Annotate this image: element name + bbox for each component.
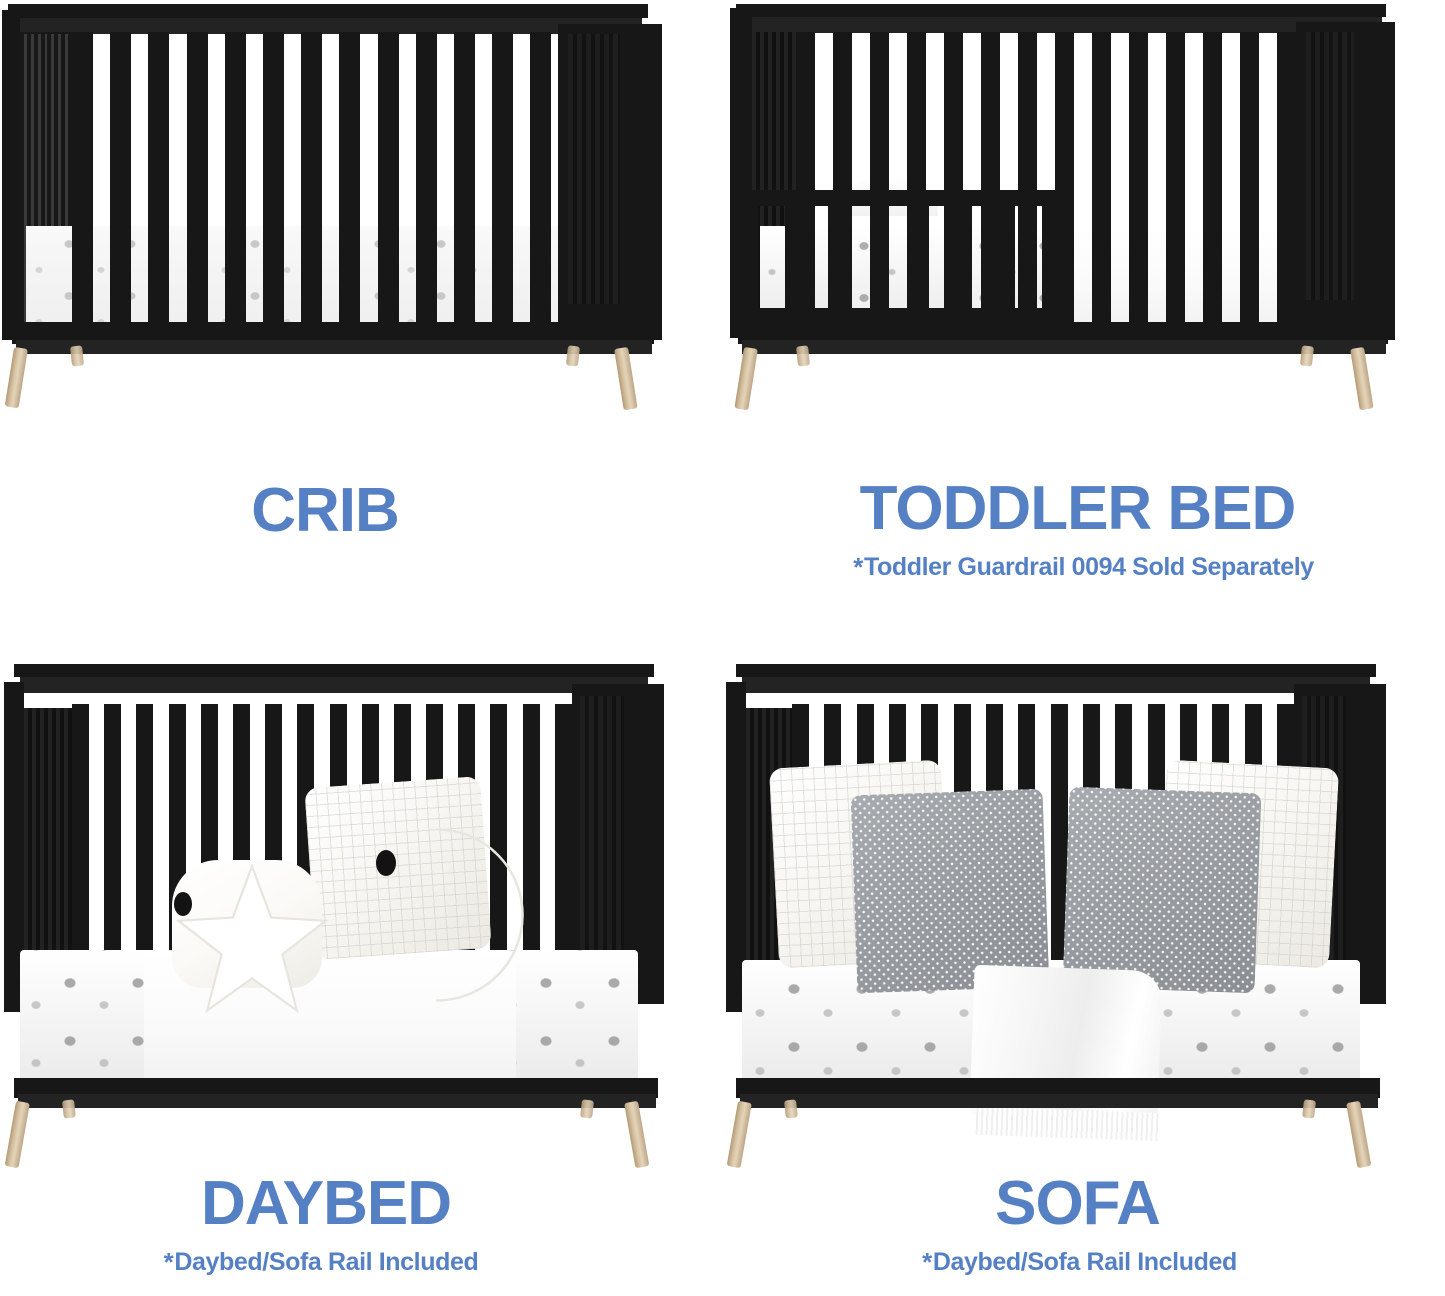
- crib-leg-front-right: [614, 347, 638, 410]
- gray-dotted-pillow-left: [851, 789, 1050, 994]
- slat: [148, 32, 169, 324]
- conversion-options-grid: CRIB: [0, 0, 1445, 1296]
- daybed-leg-front-right: [624, 1101, 649, 1168]
- slat: [187, 32, 208, 324]
- toddler-bed-illustration: [730, 4, 1395, 434]
- sofa-base-skirt: [740, 1094, 1378, 1108]
- crib-front-slats: [72, 32, 628, 324]
- panel-subtitle: *Daybed/Sofa Rail Included: [722, 1249, 1441, 1275]
- crib-base-skirt: [16, 340, 652, 354]
- slat: [492, 32, 513, 324]
- moon-plush-pillow: [348, 826, 528, 1004]
- slat: [136, 704, 153, 976]
- sofa-top-front-rail: [742, 677, 1370, 693]
- panel-crib: CRIB: [0, 0, 722, 648]
- slat: [1042, 206, 1058, 308]
- slat: [416, 32, 437, 324]
- panel-daybed: DAYBED *Daybed/Sofa Rail Included: [0, 648, 722, 1296]
- throw-fringe: [976, 1107, 1161, 1141]
- toddler-leg-front-right: [1350, 347, 1374, 410]
- toddler-leg-back-right: [1300, 345, 1314, 366]
- daybed-base-skirt: [18, 1094, 656, 1108]
- slat: [1203, 32, 1222, 324]
- slat: [301, 32, 322, 324]
- panel-toddler-bed: TODDLER BED *Toddler Guardrail 0094 Sold…: [722, 0, 1445, 648]
- slat: [225, 32, 246, 324]
- crib-leg-back-right: [566, 345, 580, 366]
- sofa-label-group: SOFA *Daybed/Sofa Rail Included: [722, 1173, 1445, 1275]
- asterisk-icon: *: [164, 1247, 174, 1277]
- crib-label-group: CRIB: [0, 480, 722, 542]
- slat: [72, 32, 93, 324]
- guardrail-top-rail: [734, 190, 1066, 206]
- slat: [263, 32, 284, 324]
- moon-pillow-eye: [376, 850, 396, 876]
- panel-subtitle: *Toddler Guardrail 0094 Sold Separately: [722, 554, 1445, 580]
- slat: [72, 704, 89, 976]
- panel-title: CRIB: [0, 480, 686, 542]
- daybed-leg-back-right: [580, 1099, 594, 1118]
- sofa-leg-back-left: [784, 1099, 798, 1118]
- slat: [742, 206, 758, 308]
- panel-title: SOFA: [722, 1173, 1439, 1235]
- sofa-leg-back-right: [1302, 1099, 1316, 1118]
- slat: [1166, 32, 1185, 324]
- crib-right-end-shadow-slats: [568, 34, 620, 304]
- slat: [871, 206, 887, 308]
- slat: [1092, 32, 1111, 324]
- slat: [1277, 32, 1296, 324]
- slat: [1240, 32, 1259, 324]
- toddler-leg-front-left: [734, 347, 758, 410]
- crib-illustration: [2, 4, 662, 434]
- panel-sofa: SOFA *Daybed/Sofa Rail Included: [722, 648, 1445, 1296]
- daybed-leg-front-left: [5, 1101, 30, 1168]
- slat: [555, 704, 572, 976]
- slat: [339, 32, 360, 324]
- panel-subtitle-text: Toddler Guardrail 0094 Sold Separately: [864, 553, 1314, 581]
- sofa-illustration: [726, 664, 1386, 1104]
- crib-left-post: [2, 10, 20, 340]
- toddler-leg-back-left: [796, 345, 810, 366]
- daybed-right-end-shadow-slats: [580, 696, 624, 964]
- sofa-leg-front-right: [1346, 1101, 1371, 1168]
- guardrail-slats: [742, 206, 1058, 308]
- toddler-top-front-rail: [742, 17, 1382, 33]
- slat: [1129, 32, 1148, 324]
- toddler-guardrail: [734, 190, 1066, 326]
- crib-top-back-rail: [8, 4, 648, 18]
- daybed-top-front-rail: [20, 677, 648, 693]
- slat: [828, 206, 844, 308]
- panel-title: DAYBED: [0, 1173, 687, 1235]
- crib-leg-back-left: [70, 345, 84, 366]
- daybed-label-group: DAYBED *Daybed/Sofa Rail Included: [0, 1173, 722, 1275]
- slat: [999, 206, 1015, 308]
- panel-title: TODDLER BED: [722, 478, 1439, 540]
- asterisk-icon: *: [922, 1247, 932, 1277]
- daybed-left-end-slats: [24, 708, 72, 980]
- toddler-right-end-shadow-slats: [1306, 32, 1354, 300]
- daybed-illustration: [4, 664, 664, 1104]
- star-plush-pillow: [152, 860, 352, 1020]
- toddler-base-skirt: [742, 340, 1386, 354]
- crib-leg-front-left: [5, 347, 28, 408]
- slat: [110, 32, 131, 324]
- sofa-leg-front-left: [727, 1101, 752, 1168]
- panel-subtitle-text: Daybed/Sofa Rail Included: [933, 1248, 1237, 1276]
- asterisk-icon: *: [853, 552, 863, 582]
- slat: [530, 32, 551, 324]
- panel-subtitle: *Daybed/Sofa Rail Included: [0, 1249, 682, 1275]
- slat: [104, 704, 121, 976]
- panel-subtitle-text: Daybed/Sofa Rail Included: [174, 1248, 478, 1276]
- daybed-leg-back-left: [62, 1099, 76, 1118]
- slat: [454, 32, 475, 324]
- toddler-top-back-rail: [736, 4, 1386, 17]
- daybed-top-back-rail: [14, 664, 654, 677]
- slat: [956, 206, 972, 308]
- sofa-top-back-rail: [736, 664, 1376, 677]
- slat: [913, 206, 929, 308]
- slat: [785, 206, 801, 308]
- toddler-label-group: TODDLER BED *Toddler Guardrail 0094 Sold…: [722, 478, 1445, 580]
- slat: [378, 32, 399, 324]
- gray-dotted-pillow-right: [1063, 787, 1262, 994]
